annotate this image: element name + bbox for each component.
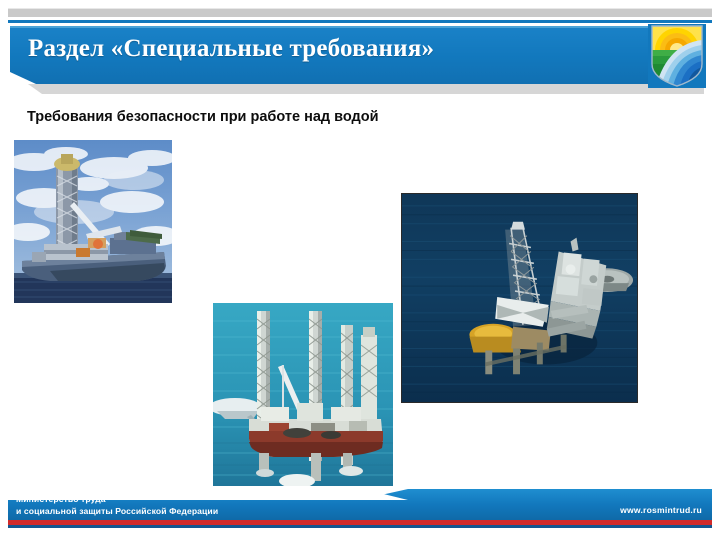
top-blue-rule (8, 20, 712, 23)
page-title: Раздел «Специальные требования» (28, 33, 628, 65)
presentation-slide: Раздел «Специальные требования» (0, 0, 720, 540)
slide-subtitle: Требования безопасности при работе над в… (27, 109, 378, 125)
header-shadow (14, 84, 704, 94)
drillship-photo (14, 140, 172, 303)
footer-blue-underline (8, 525, 712, 528)
footer-website-url[interactable]: www.rosmintrud.ru (620, 505, 702, 515)
header-band-highlight (10, 26, 700, 28)
footer-organization-line2: и социальной защиты Российской Федерации (16, 506, 218, 518)
footer-organization: Министерство труда и социальной защиты Р… (16, 494, 218, 517)
offshore-platform-aerial-photo (401, 193, 638, 403)
footer-organization-line1: Министерство труда (16, 494, 218, 506)
jackup-rig-photo (213, 303, 393, 503)
header-left-edge (6, 23, 10, 93)
ministry-emblem-icon (648, 24, 706, 88)
